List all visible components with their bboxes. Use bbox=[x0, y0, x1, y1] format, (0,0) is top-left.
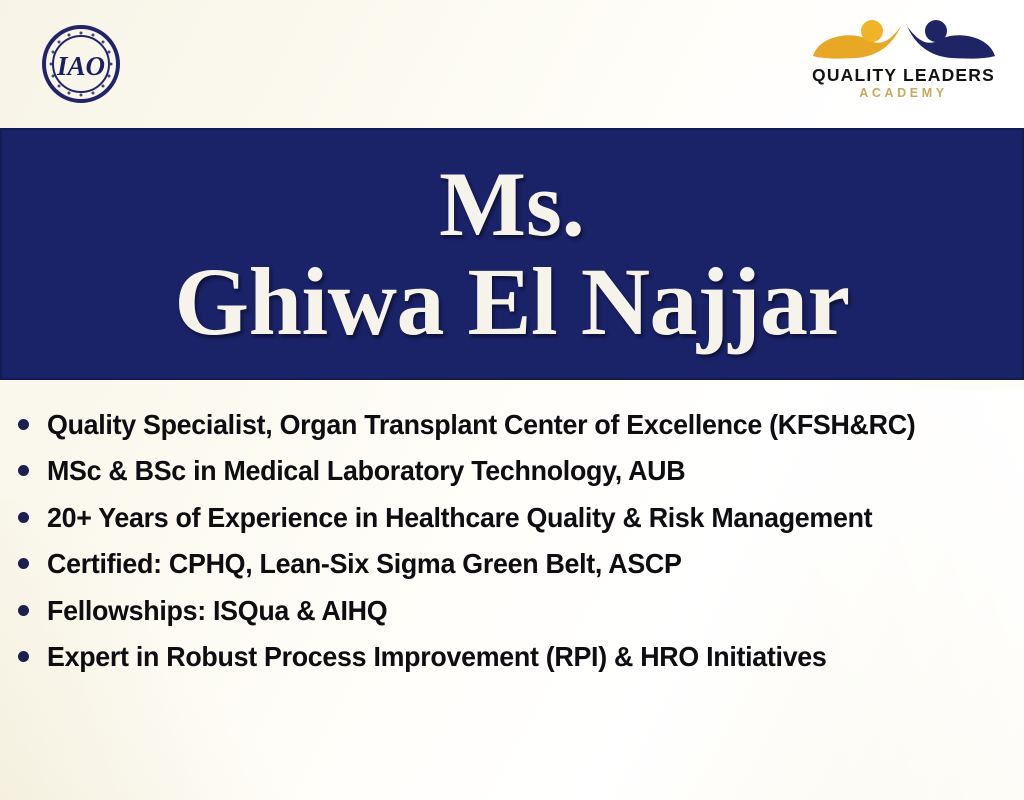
speaker-profile-card: IAO QUALITY LEADERS ACADEMY Ms. Ghiwa El… bbox=[0, 0, 1024, 800]
list-item: Fellowships: ISQua & AIHQ bbox=[14, 592, 1020, 629]
list-item: Quality Specialist, Organ Transplant Cen… bbox=[14, 406, 1020, 443]
bullet-dot-icon bbox=[18, 465, 29, 476]
brand-subtitle: ACADEMY bbox=[801, 87, 1006, 100]
quality-leaders-academy-logo: QUALITY LEADERS ACADEMY bbox=[801, 14, 1006, 100]
speaker-name-banner: Ms. Ghiwa El Najjar bbox=[0, 128, 1024, 380]
brand-title: QUALITY LEADERS bbox=[801, 66, 1006, 84]
card-header: IAO QUALITY LEADERS ACADEMY bbox=[0, 0, 1024, 128]
iao-seal-icon: IAO bbox=[35, 24, 127, 104]
svg-text:IAO: IAO bbox=[56, 51, 105, 81]
bullet-dot-icon bbox=[18, 605, 29, 616]
quality-leaders-people-icon bbox=[809, 14, 999, 62]
list-item: Expert in Robust Process Improvement (RP… bbox=[14, 638, 1020, 675]
list-item-label: Fellowships: ISQua & AIHQ bbox=[47, 592, 996, 629]
speaker-honorific: Ms. bbox=[439, 158, 585, 250]
list-item-label: MSc & BSc in Medical Laboratory Technolo… bbox=[47, 452, 996, 489]
bullet-dot-icon bbox=[18, 419, 29, 430]
speaker-name: Ghiwa El Najjar bbox=[174, 254, 849, 350]
list-item: 20+ Years of Experience in Healthcare Qu… bbox=[14, 499, 1020, 536]
list-item-label: Expert in Robust Process Improvement (RP… bbox=[47, 638, 996, 675]
list-item-label: Quality Specialist, Organ Transplant Cen… bbox=[47, 406, 996, 443]
list-item-label: Certified: CPHQ, Lean-Six Sigma Green Be… bbox=[47, 545, 996, 582]
list-item: MSc & BSc in Medical Laboratory Technolo… bbox=[14, 452, 1020, 489]
bullet-dot-icon bbox=[18, 651, 29, 662]
credentials-list: Quality Specialist, Organ Transplant Cen… bbox=[0, 392, 1024, 684]
bullet-dot-icon bbox=[18, 512, 29, 523]
list-item: Certified: CPHQ, Lean-Six Sigma Green Be… bbox=[14, 545, 1020, 582]
bullet-dot-icon bbox=[18, 558, 29, 569]
list-item-label: 20+ Years of Experience in Healthcare Qu… bbox=[47, 499, 996, 536]
